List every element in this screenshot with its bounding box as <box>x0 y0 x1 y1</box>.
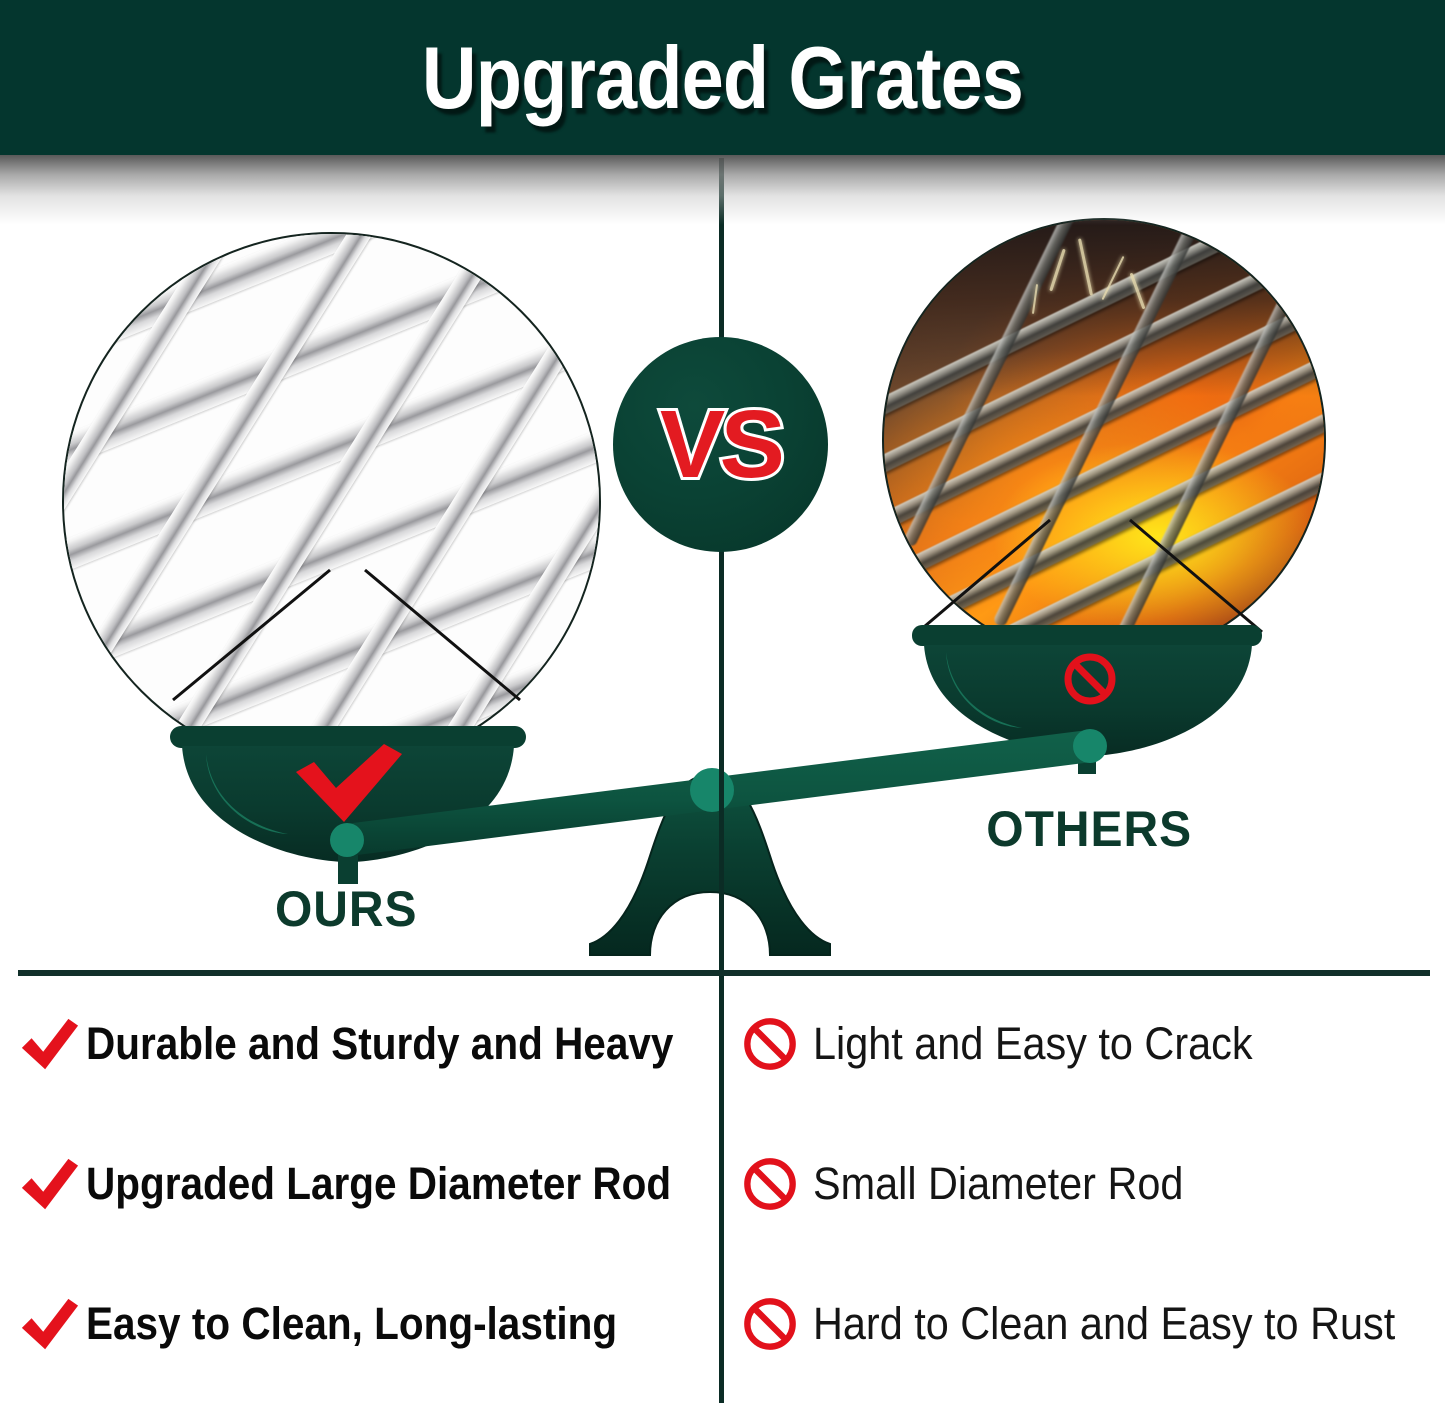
feature-text-ours: Upgraded Large Diameter Rod <box>86 1160 671 1207</box>
feature-text-others: Light and Easy to Crack <box>813 1020 1253 1067</box>
feature-cell-ours: Easy to Clean, Long-lasting <box>0 1274 719 1374</box>
beam-pivot <box>690 768 734 812</box>
feature-text-others: Hard to Clean and Easy to Rust <box>813 1300 1395 1347</box>
prohibition-icon <box>741 1015 799 1073</box>
scale-label-others: OTHERS <box>986 800 1192 858</box>
vs-badge: VS <box>613 337 828 552</box>
left-pan-ours <box>170 726 526 884</box>
feature-text-ours: Durable and Sturdy and Heavy <box>86 1020 673 1067</box>
page-title: Upgraded Grates <box>422 34 1023 122</box>
prohibition-icon <box>741 1295 799 1353</box>
feature-comparison-list: Durable and Sturdy and Heavy Light and E… <box>0 976 1445 1426</box>
check-icon <box>18 1013 80 1075</box>
feature-cell-others: Small Diameter Rod <box>719 1134 1445 1234</box>
feature-row: Easy to Clean, Long-lasting Hard to Clea… <box>0 1274 1445 1374</box>
feature-cell-others: Hard to Clean and Easy to Rust <box>719 1274 1445 1374</box>
check-icon <box>18 1153 80 1215</box>
feature-row: Upgraded Large Diameter Rod Small Diamet… <box>0 1134 1445 1234</box>
vs-label: VS <box>658 397 784 493</box>
prohibition-icon <box>741 1155 799 1213</box>
infographic-canvas: Upgraded Grates <box>0 0 1445 1426</box>
check-icon <box>18 1293 80 1355</box>
feature-text-ours: Easy to Clean, Long-lasting <box>86 1300 617 1347</box>
feature-cell-ours: Upgraded Large Diameter Rod <box>0 1134 719 1234</box>
feature-row: Durable and Sturdy and Heavy Light and E… <box>0 994 1445 1094</box>
scale-label-ours: OURS <box>275 880 418 938</box>
feature-cell-others: Light and Easy to Crack <box>719 994 1445 1094</box>
header-banner: Upgraded Grates <box>0 0 1445 155</box>
feature-cell-ours: Durable and Sturdy and Heavy <box>0 994 719 1094</box>
feature-text-others: Small Diameter Rod <box>813 1160 1183 1207</box>
